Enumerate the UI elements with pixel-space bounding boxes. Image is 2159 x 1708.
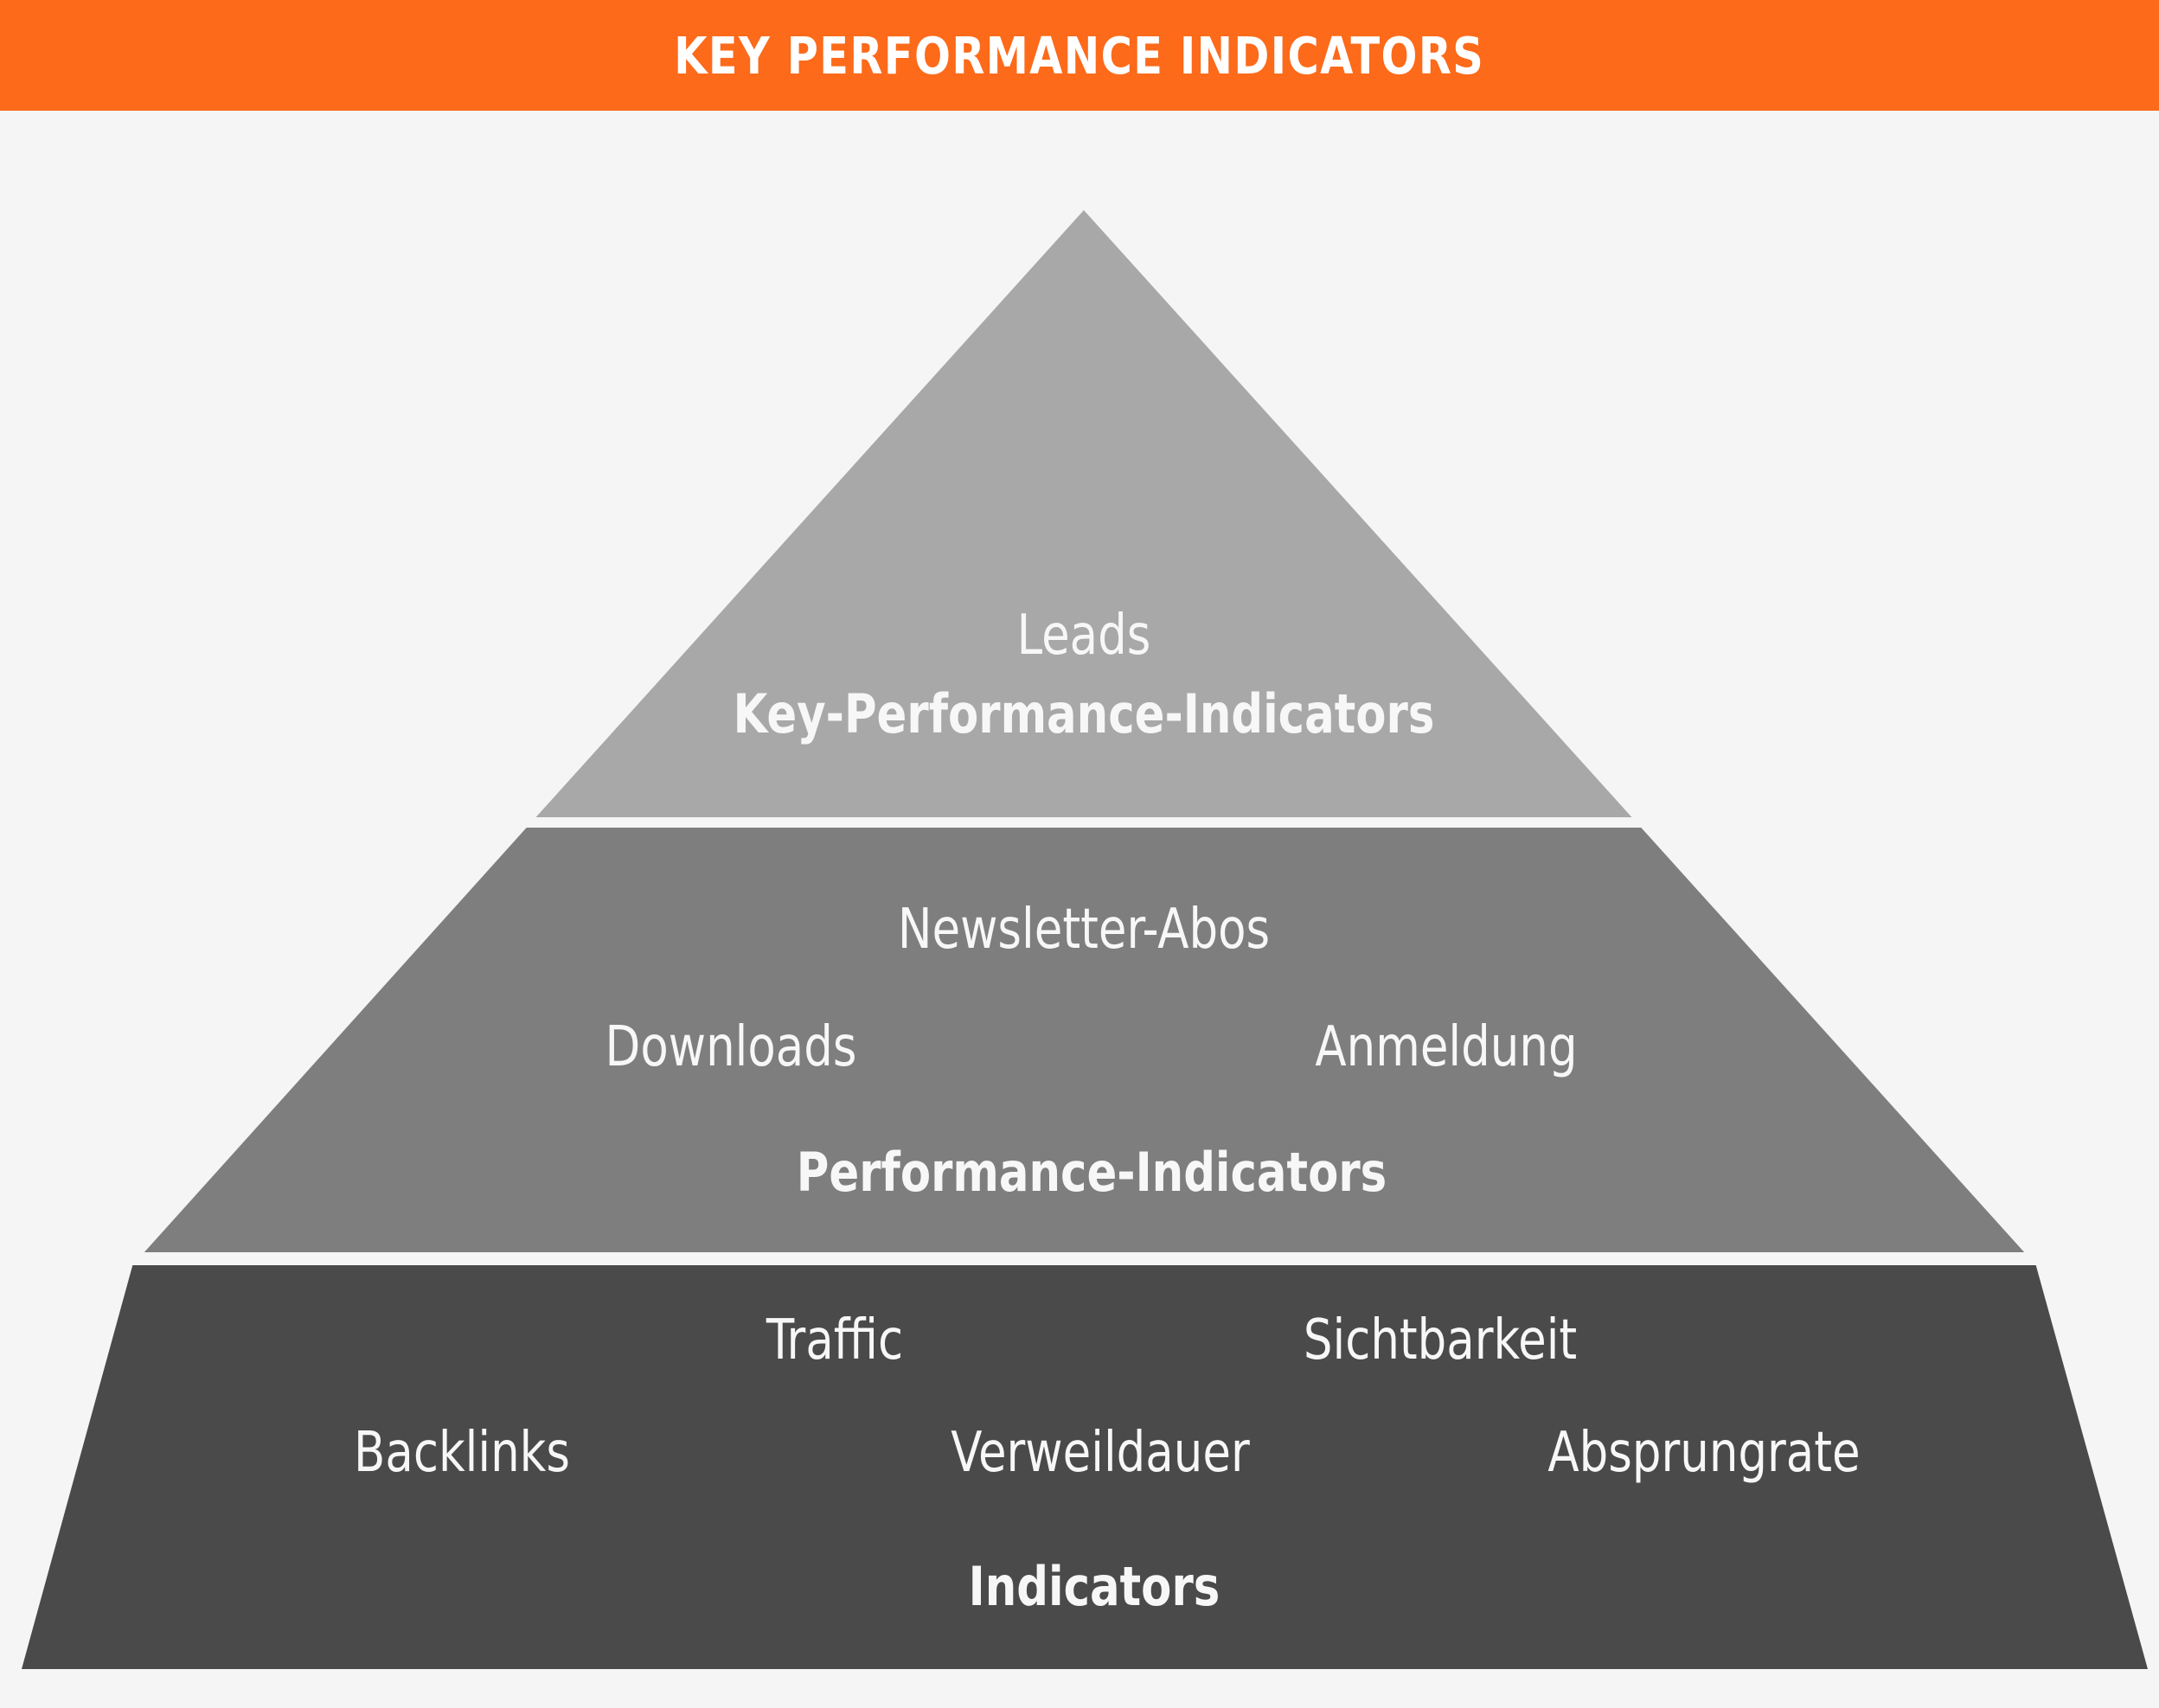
pyramid-tier-name-key-performance-indicators: Key-Performance-Indicators (734, 688, 1435, 741)
pyramid-metric-sichtbarkeit: Sichtbarkeit (1304, 1313, 1577, 1368)
page-title: KEY PERFORMANCE INDICATORS (675, 30, 1485, 81)
header-bar: KEY PERFORMANCE INDICATORS (0, 0, 2159, 111)
pyramid-metric-downloads: Downloads (605, 1020, 857, 1075)
pyramid-metric-anmeldung: Anmeldung (1315, 1020, 1577, 1075)
pyramid-metric-absprungrate: Absprungrate (1547, 1425, 1860, 1481)
pyramid-metric-verweildauer: Verweildauer (951, 1425, 1249, 1481)
pyramid-metric-backlinks: Backlinks (354, 1425, 570, 1481)
pyramid-metric-traffic: Traffic (766, 1313, 903, 1368)
kpi-pyramid-diagram: Leads Key-Performance-Indicators Newslet… (0, 111, 2159, 1708)
pyramid-metric-newsletter-abos: Newsletter-Abos (898, 902, 1270, 957)
pyramid-metric-leads: Leads (1017, 608, 1151, 663)
pyramid-tier-name-indicators: Indicators (969, 1560, 1220, 1614)
pyramid-tier-name-performance-indicators: Performance-Indicators (797, 1146, 1387, 1199)
